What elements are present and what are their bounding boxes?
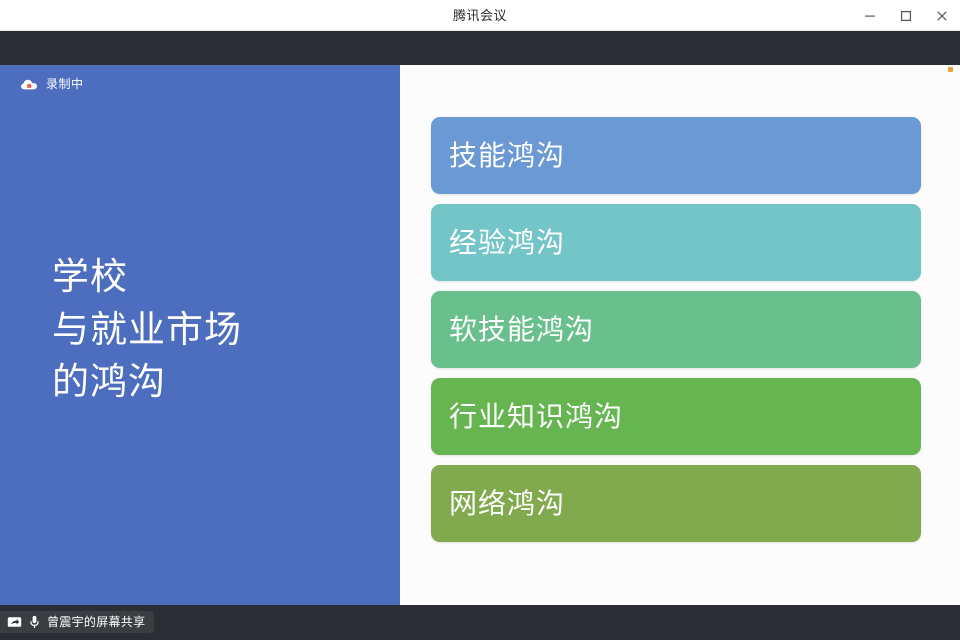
statusbar: 曾震宇的屏幕共享 (0, 609, 960, 640)
minimize-icon (864, 10, 876, 22)
slide-right-panel: 技能鸿沟 经验鸿沟 软技能鸿沟 行业知识鸿沟 网络鸿沟 (400, 65, 960, 605)
window-controls (852, 0, 960, 31)
gap-bar-label: 技能鸿沟 (431, 142, 565, 170)
list-item: 软技能鸿沟 (431, 291, 921, 368)
slide-title: 学校 与就业市场 的鸿沟 (52, 251, 242, 409)
list-item: 技能鸿沟 (431, 117, 921, 194)
gap-bar-label: 经验鸿沟 (431, 229, 565, 257)
minimize-button[interactable] (852, 0, 888, 31)
list-item: 行业知识鸿沟 (431, 378, 921, 455)
gap-bar-list: 技能鸿沟 经验鸿沟 软技能鸿沟 行业知识鸿沟 网络鸿沟 (431, 117, 921, 552)
cloud-record-icon (20, 78, 38, 91)
titlebar: 腾讯会议 (0, 0, 960, 31)
screen-share-status[interactable]: 曾震宇的屏幕共享 (0, 611, 154, 633)
microphone-icon (29, 615, 40, 629)
list-item: 网络鸿沟 (431, 465, 921, 542)
slide-left-panel: 学校 与就业市场 的鸿沟 (0, 65, 400, 605)
maximize-button[interactable] (888, 0, 924, 31)
gap-bar-label: 行业知识鸿沟 (431, 403, 623, 431)
screen-share-label: 曾震宇的屏幕共享 (47, 616, 145, 628)
slide-marker-dot (948, 67, 953, 72)
close-button[interactable] (924, 0, 960, 31)
list-item: 经验鸿沟 (431, 204, 921, 281)
close-icon (936, 10, 948, 22)
recording-indicator[interactable]: 录制中 (20, 75, 84, 93)
gap-bar-label: 软技能鸿沟 (431, 316, 594, 344)
window-title: 腾讯会议 (453, 9, 507, 22)
maximize-icon (900, 10, 912, 22)
tencent-meeting-window: 腾讯会议 (0, 0, 960, 640)
recording-label: 录制中 (46, 78, 84, 90)
screen-share-icon (7, 616, 22, 629)
shared-slide: 学校 与就业市场 的鸿沟 技能鸿沟 经验鸿沟 软技能鸿沟 行业知识鸿沟 网络鸿 (0, 65, 960, 605)
gap-bar-label: 网络鸿沟 (431, 490, 565, 518)
